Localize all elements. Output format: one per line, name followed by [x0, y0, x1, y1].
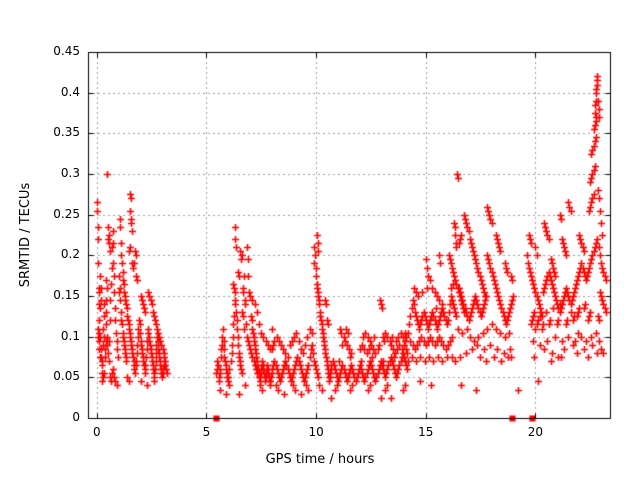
x-axis-label: GPS time / hours	[0, 452, 640, 467]
chart-figure: Day 051 of 2026, SRMTID for receiver qui…	[0, 0, 640, 480]
y-tick-label: 0	[20, 410, 80, 424]
y-tick-label: 0.15	[20, 288, 80, 302]
x-tick-label: 5	[176, 425, 236, 439]
y-tick-label: 0.35	[20, 125, 80, 139]
y-tick-label: 0.1	[20, 329, 80, 343]
x-tick-label: 0	[67, 425, 127, 439]
y-tick-label: 0.2	[20, 247, 80, 261]
y-tick-label: 0.3	[20, 166, 80, 180]
scatter-plot-canvas	[0, 0, 640, 480]
y-tick-label: 0.4	[20, 85, 80, 99]
x-tick-label: 10	[286, 425, 346, 439]
y-axis-label: SRMTID / TECUs	[18, 135, 33, 335]
y-tick-label: 0.45	[20, 44, 80, 58]
y-tick-label: 0.05	[20, 369, 80, 383]
x-tick-label: 20	[505, 425, 565, 439]
x-tick-label: 15	[396, 425, 456, 439]
y-tick-label: 0.25	[20, 207, 80, 221]
